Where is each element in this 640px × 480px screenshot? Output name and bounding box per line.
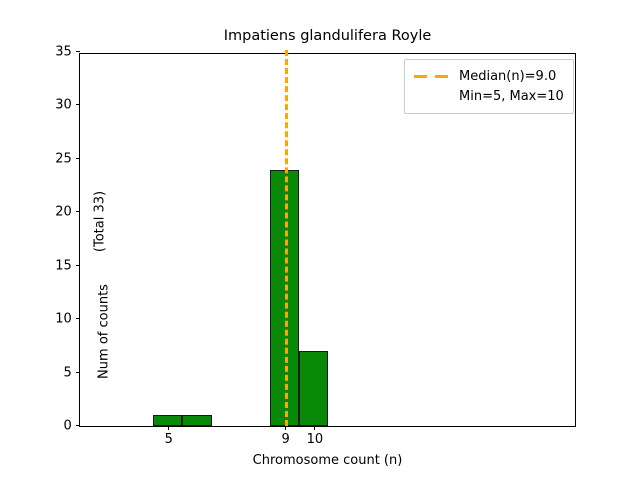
y-tick: 0	[76, 425, 80, 426]
bar	[153, 415, 182, 426]
x-tick-label: 5	[165, 433, 173, 446]
chart-figure: Impatiens glandulifera Royle 05101520253…	[0, 0, 640, 480]
blank-swatch-icon	[414, 91, 450, 102]
x-tick: 9	[285, 426, 286, 430]
y-tick: 25	[76, 158, 80, 159]
bar	[299, 351, 328, 426]
x-tick: 5	[168, 426, 169, 430]
bar	[182, 415, 211, 426]
x-tick-label: 10	[307, 433, 324, 446]
x-axis-label: Chromosome count (n)	[79, 453, 576, 468]
legend-item-minmax: Min=5, Max=10	[414, 86, 564, 106]
legend-item-median: Median(n)=9.0	[414, 66, 564, 86]
y-tick: 35	[76, 51, 80, 52]
y-tick: 5	[76, 372, 80, 373]
y-tick: 20	[76, 211, 80, 212]
x-tick-label: 9	[282, 433, 290, 446]
dashed-line-icon	[414, 71, 450, 82]
plot-axes: 05101520253035 5910 Num of counts (Total…	[79, 53, 576, 427]
y-tick-label: 15	[55, 259, 72, 272]
y-tick-label: 10	[55, 313, 72, 326]
y-tick-label: 25	[55, 152, 72, 165]
y-tick: 10	[76, 318, 80, 319]
y-tick-label: 5	[64, 366, 72, 379]
legend-label-median: Median(n)=9.0	[459, 69, 556, 84]
x-tick: 10	[314, 426, 315, 430]
y-tick-label: 0	[64, 420, 72, 433]
chart-title: Impatiens glandulifera Royle	[79, 27, 576, 45]
y-tick-label: 35	[55, 46, 72, 59]
y-tick: 30	[76, 104, 80, 105]
chart-legend: Median(n)=9.0 Min=5, Max=10	[404, 59, 574, 114]
y-tick-label: 20	[55, 206, 72, 219]
y-tick-label: 30	[55, 99, 72, 112]
median-line	[285, 50, 288, 426]
y-axis-label-total: (Total 33)	[93, 147, 108, 297]
legend-label-minmax: Min=5, Max=10	[459, 89, 564, 104]
y-tick: 15	[76, 265, 80, 266]
